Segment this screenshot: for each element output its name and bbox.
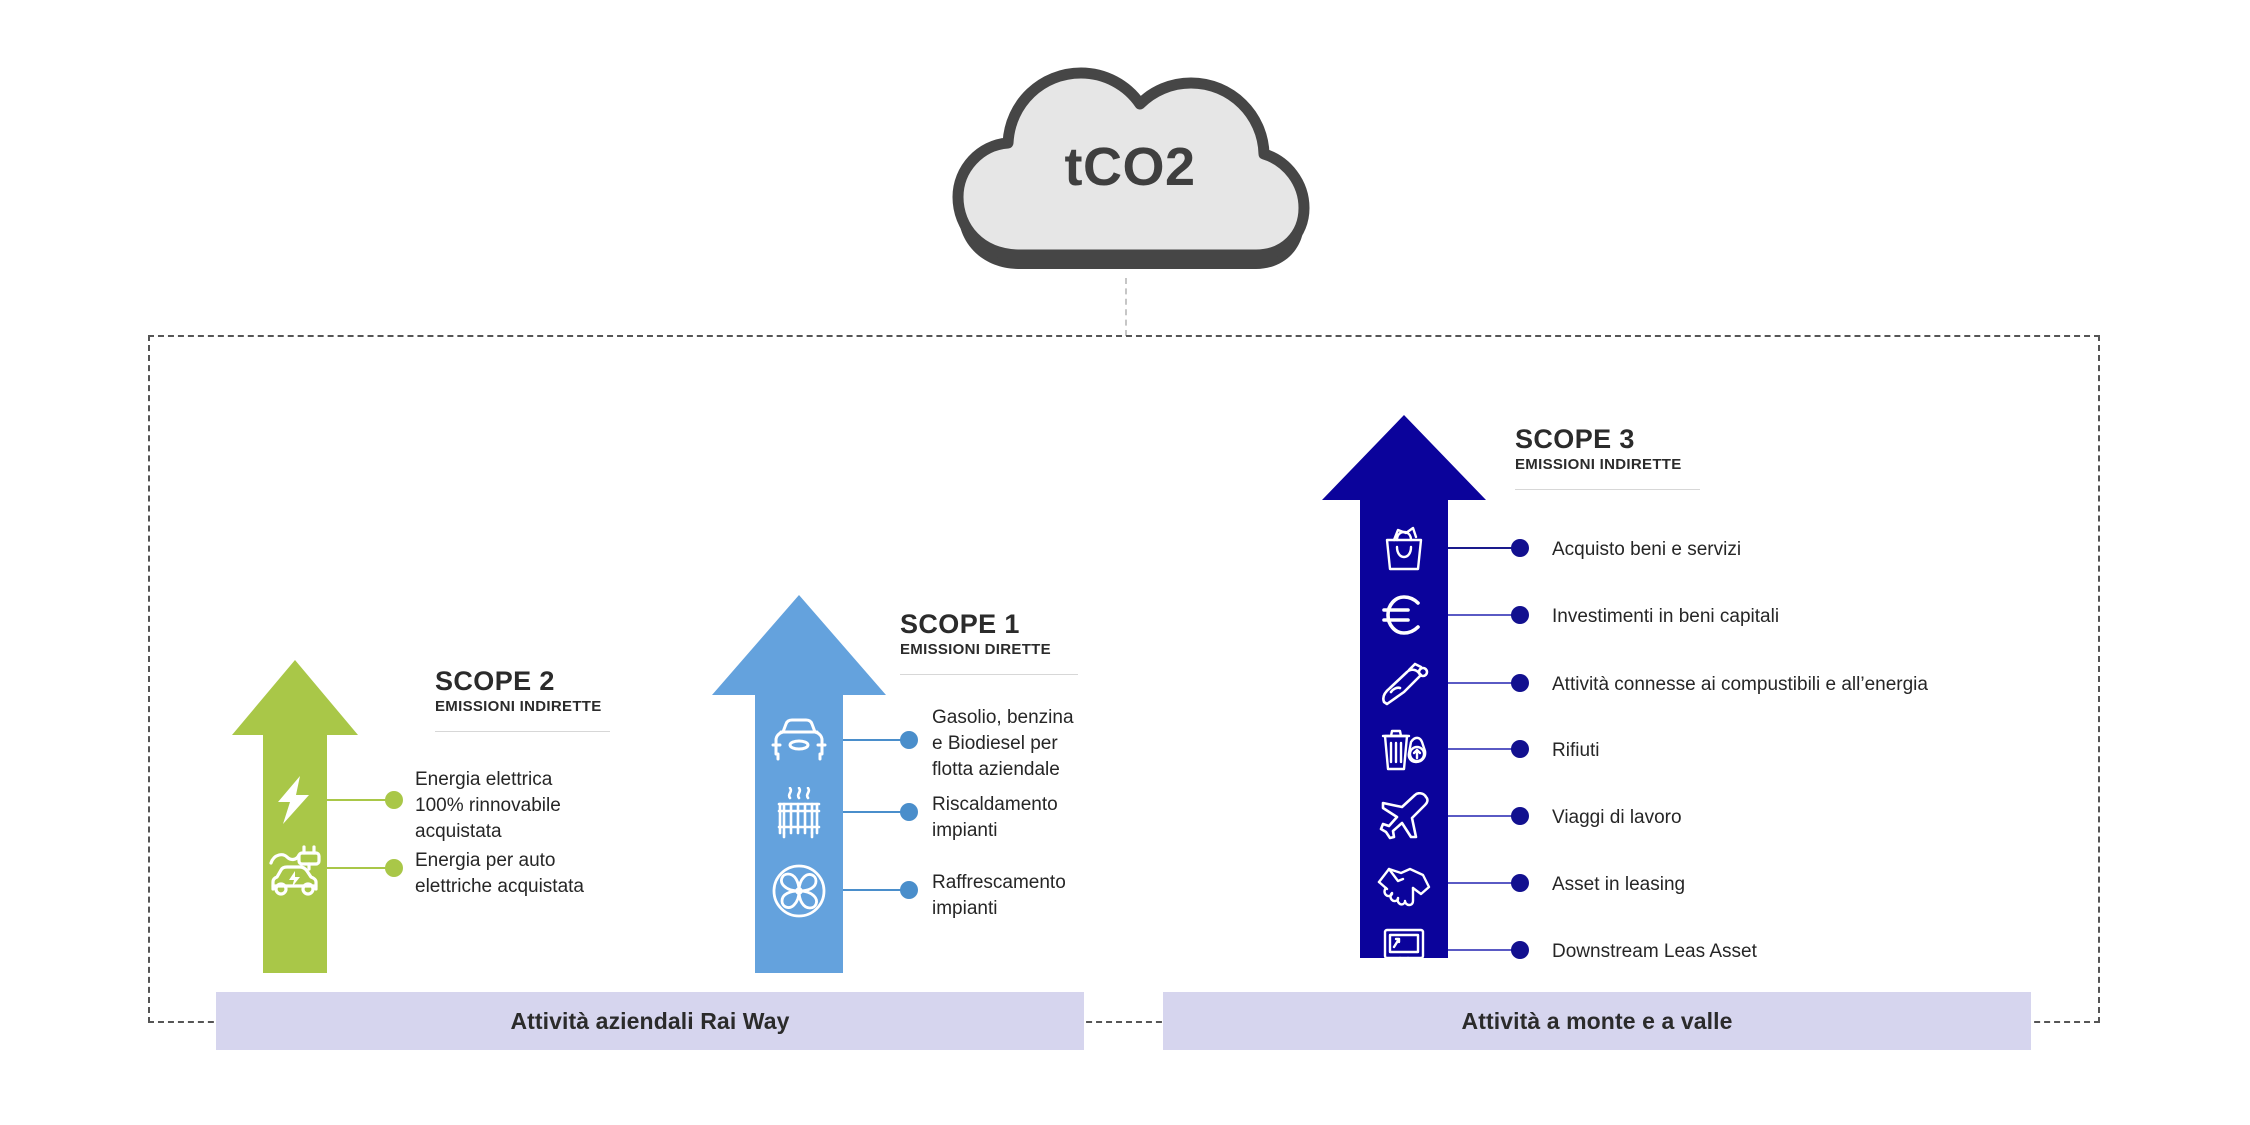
scope-3-item-1-connector (1448, 547, 1516, 549)
scope-1-item-2-dot (900, 803, 918, 821)
cloud-tco2: tCO2 (950, 55, 1310, 285)
bottom-bar-right-label: Attività a monte e a valle (1461, 1008, 1732, 1035)
scope-3-item-1-icon-wrap (1375, 523, 1433, 573)
scope-2-divider (435, 731, 610, 732)
scope-3-item-3-icon-wrap (1375, 658, 1433, 708)
scope-3-item-6-label: Asset in leasing (1552, 872, 1685, 898)
scope-2-item-2-connector (327, 867, 390, 869)
bottom-bar-left-label: Attività aziendali Rai Way (510, 1008, 789, 1035)
scope-3-item-6-icon-wrap (1373, 859, 1435, 909)
scope-3-item-4-icon-wrap (1375, 723, 1433, 775)
scope-3-item-5-dot (1511, 807, 1529, 825)
label-line: Energia elettrica (415, 767, 735, 793)
scope-3-title: SCOPE 3 (1515, 425, 1700, 453)
label-line: flotta aziendale (932, 757, 1252, 783)
label-line: acquistata (415, 819, 735, 845)
scope-1-subtitle: EMISSIONI DIRETTE (900, 641, 1078, 658)
scope-3-item-7-icon-wrap (1375, 925, 1433, 977)
scope-1-item-1-icon-wrap (766, 715, 832, 767)
scope-3-item-2-dot (1511, 606, 1529, 624)
scope-3-item-1-label: Acquisto beni e servizi (1552, 537, 1741, 563)
infographic-canvas: tCO2 SCOPE 2 EMISSIONI INDIRETTE Energia… (0, 0, 2250, 1125)
scope-3-item-6-connector (1448, 882, 1516, 884)
label-line: e Biodiesel per (932, 731, 1252, 757)
scope-1-item-2-label: Riscaldamento impianti (932, 792, 1252, 844)
car-front-icon (768, 718, 830, 764)
scope-3-item-2-icon-wrap (1375, 590, 1433, 640)
scope-1-group: SCOPE 1 EMISSIONI DIRETTE Gasolio, benzi… (710, 590, 1090, 975)
scope-2-item-2-icon-wrap (262, 840, 328, 898)
scope-3-subtitle: EMISSIONI INDIRETTE (1515, 456, 1700, 473)
airplane-icon (1379, 792, 1429, 840)
scope-1-item-2-icon-wrap (768, 785, 830, 841)
scope-3-item-2-connector (1448, 614, 1516, 616)
radiator-icon (771, 787, 827, 839)
scope-2-item-1-icon-wrap (268, 773, 322, 827)
electric-car-plug-icon (264, 841, 326, 897)
scope-3-item-4-label: Rifiuti (1552, 738, 1600, 764)
bottom-bar-left: Attività aziendali Rai Way (216, 992, 1084, 1050)
scope-3-item-5-icon-wrap (1375, 791, 1433, 841)
label-line: elettriche acquistata (415, 874, 735, 900)
scope-2-title: SCOPE 2 (435, 667, 610, 695)
desktop-computer-icon (1379, 926, 1429, 976)
scope-1-item-1-connector (843, 739, 905, 741)
scope-3-item-2-label: Investimenti in beni capitali (1552, 604, 1779, 630)
shopping-bag-icon (1380, 524, 1428, 572)
scope-3-divider (1515, 489, 1700, 490)
scope-3-header: SCOPE 3 EMISSIONI INDIRETTE (1515, 425, 1700, 490)
scope-1-divider (900, 674, 1078, 675)
label-line: 100% rinnovabile (415, 793, 735, 819)
scope-1-item-3-icon-wrap (768, 862, 830, 920)
scope-2-item-2-label: Energia per auto elettriche acquistata (415, 848, 735, 900)
scope-2-item-1-dot (385, 791, 403, 809)
scope-2-item-2-dot (385, 859, 403, 877)
scope-1-item-1-dot (900, 731, 918, 749)
scope-3-item-5-label: Viaggi di lavoro (1552, 805, 1682, 831)
fuel-pump-icon (1379, 659, 1429, 707)
scope-3-item-7-label: Downstream Leas Asset (1552, 939, 1757, 965)
scope-1-item-2-connector (843, 811, 905, 813)
label-line: Raffrescamento (932, 870, 1252, 896)
fan-icon (771, 863, 827, 919)
scope-1-item-3-connector (843, 889, 905, 891)
label-line: impianti (932, 896, 1252, 922)
scope-2-group: SCOPE 2 EMISSIONI INDIRETTE Energia elet… (230, 655, 610, 975)
scope-2-item-1-connector (327, 799, 390, 801)
scope-2-header: SCOPE 2 EMISSIONI INDIRETTE (435, 667, 610, 732)
cloud-icon (950, 55, 1310, 285)
scope-3-item-3-connector (1448, 682, 1516, 684)
scope-3-item-4-connector (1448, 748, 1516, 750)
euro-icon (1380, 591, 1428, 639)
scope-2-item-1-label: Energia elettrica 100% rinnovabile acqui… (415, 767, 735, 846)
label-line: Riscaldamento (932, 792, 1252, 818)
scope-1-title: SCOPE 1 (900, 610, 1078, 638)
label-line: Gasolio, benzina (932, 705, 1252, 731)
scope-3-item-3-label: Attività connesse ai compustibili e all’… (1552, 672, 1928, 698)
scope-1-item-1-label: Gasolio, benzina e Biodiesel per flotta … (932, 705, 1252, 784)
cloud-connector-line (1125, 278, 1127, 336)
lightning-bolt-icon (273, 775, 317, 825)
scope-2-subtitle: EMISSIONI INDIRETTE (435, 698, 610, 715)
scope-3-group: SCOPE 3 EMISSIONI INDIRETTE Acquisto ben… (1320, 410, 2120, 970)
scope-3-item-5-connector (1448, 815, 1516, 817)
handshake-icon (1377, 861, 1431, 907)
scope-3-item-4-dot (1511, 740, 1529, 758)
scope-1-item-3-dot (900, 881, 918, 899)
scope-3-item-7-dot (1511, 941, 1529, 959)
label-line: impianti (932, 818, 1252, 844)
bottom-bar-right: Attività a monte e a valle (1163, 992, 2031, 1050)
scope-1-header: SCOPE 1 EMISSIONI DIRETTE (900, 610, 1078, 675)
label-line: Energia per auto (415, 848, 735, 874)
waste-bin-recycle-icon (1379, 724, 1429, 774)
scope-3-item-3-dot (1511, 674, 1529, 692)
scope-3-item-6-dot (1511, 874, 1529, 892)
scope-1-item-3-label: Raffrescamento impianti (932, 870, 1252, 922)
scope-3-item-7-connector (1448, 949, 1516, 951)
scope-3-item-1-dot (1511, 539, 1529, 557)
